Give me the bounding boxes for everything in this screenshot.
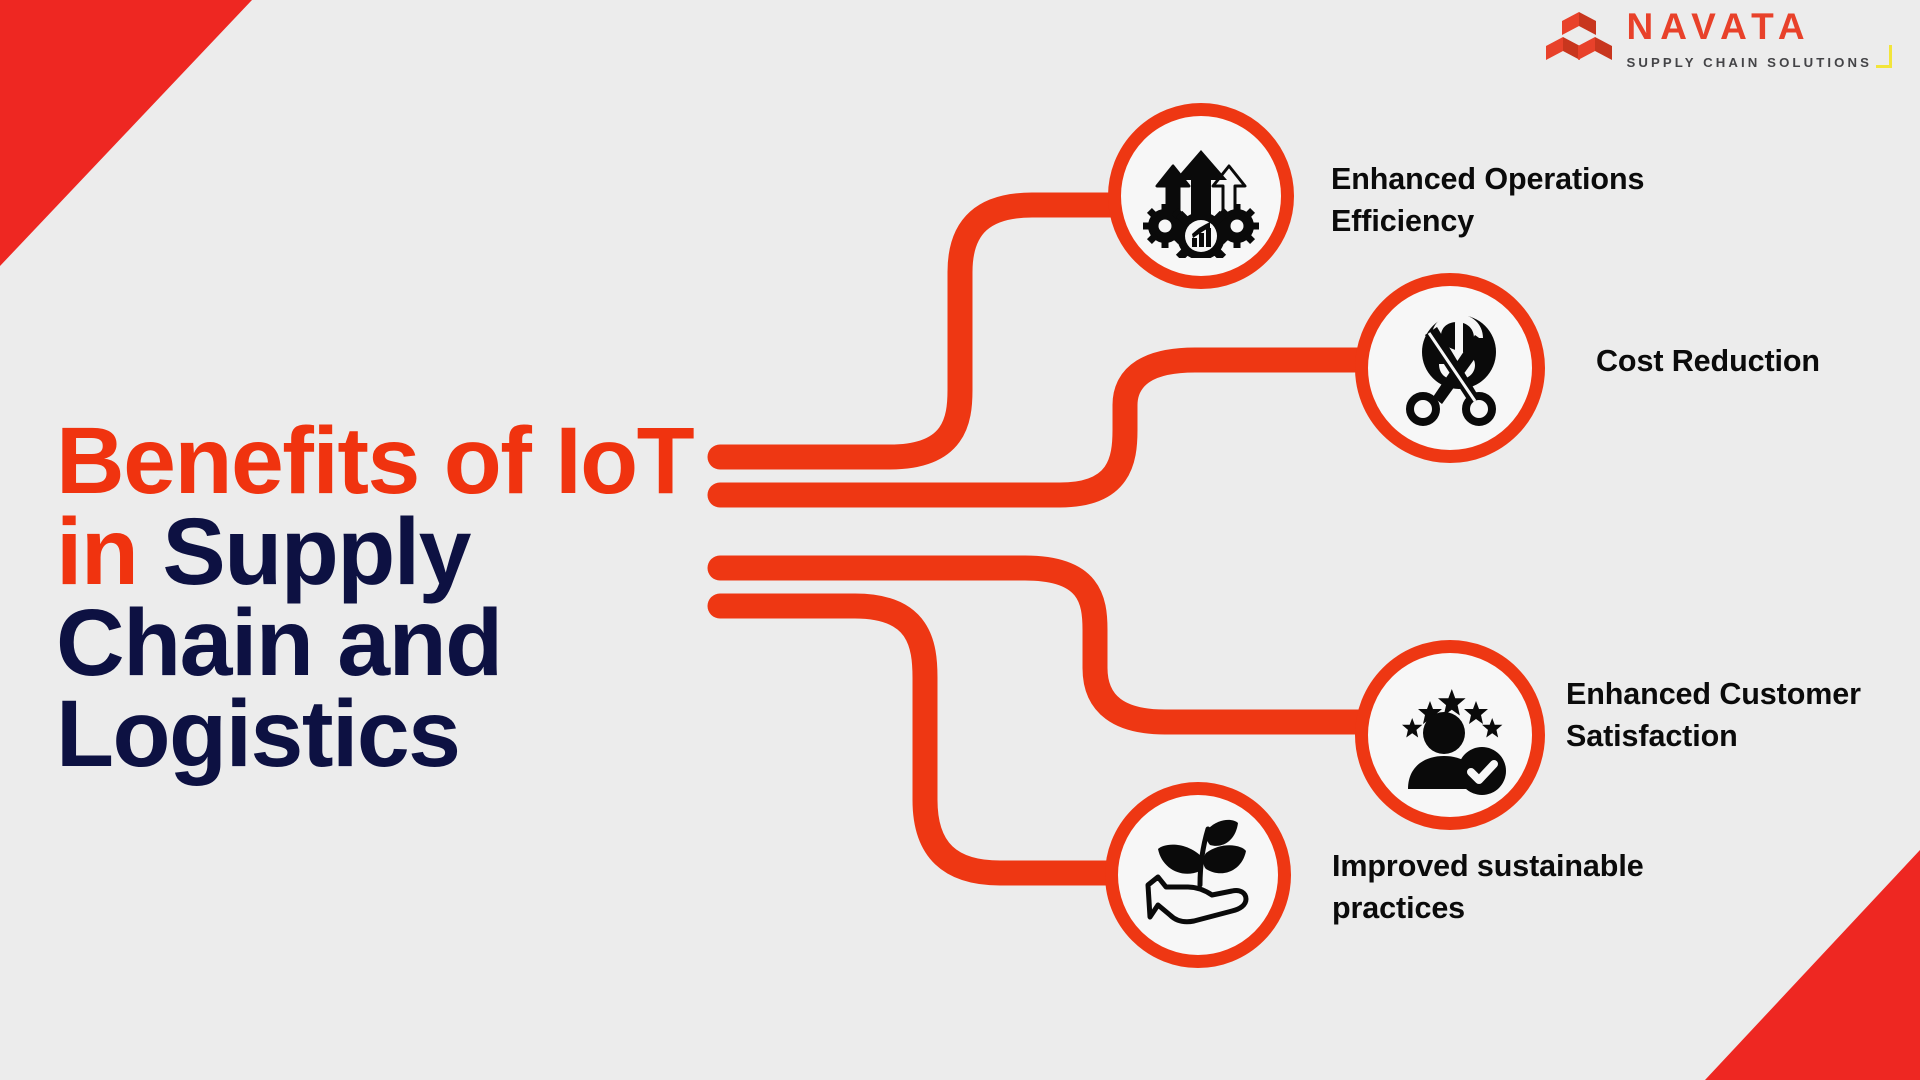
brand-name: NAVATA — [1626, 8, 1892, 45]
benefit-node-1[interactable] — [1108, 103, 1294, 289]
top-left-corner-triangle — [0, 0, 252, 266]
benefit-node-4[interactable] — [1105, 782, 1291, 968]
benefit-node-2[interactable] — [1355, 273, 1545, 463]
benefit-label-1: Enhanced Operations Efficiency — [1331, 158, 1801, 242]
logo-bracket-accent — [1876, 45, 1892, 68]
brand-logo: NAVATA SUPPLY CHAIN SOLUTIONS — [1546, 8, 1892, 69]
connector-path-1 — [720, 205, 1112, 457]
connector-path-3 — [720, 568, 1360, 722]
stacked-chevron-blocks-icon — [1546, 10, 1612, 68]
infographic-canvas: NAVATA SUPPLY CHAIN SOLUTIONS Benefits o… — [0, 0, 1920, 1080]
page-title: Benefits of IoT in Supply Chain and Logi… — [56, 416, 696, 781]
hand-holding-plant-icon — [1136, 813, 1260, 937]
connector-path-2 — [720, 360, 1360, 495]
benefit-node-3[interactable] — [1355, 640, 1545, 830]
arrows-up-gears-chart-icon — [1139, 134, 1263, 258]
benefit-label-3: Enhanced Customer Satisfaction — [1566, 673, 1920, 757]
scissors-cutting-dollar-coin-icon — [1387, 305, 1513, 431]
person-five-stars-check-icon — [1386, 671, 1514, 799]
connector-path-4 — [720, 606, 1110, 873]
brand-tagline: SUPPLY CHAIN SOLUTIONS — [1626, 56, 1872, 69]
benefit-label-2: Cost Reduction — [1596, 340, 1920, 382]
benefit-label-4: Improved sustainable practices — [1332, 845, 1802, 929]
